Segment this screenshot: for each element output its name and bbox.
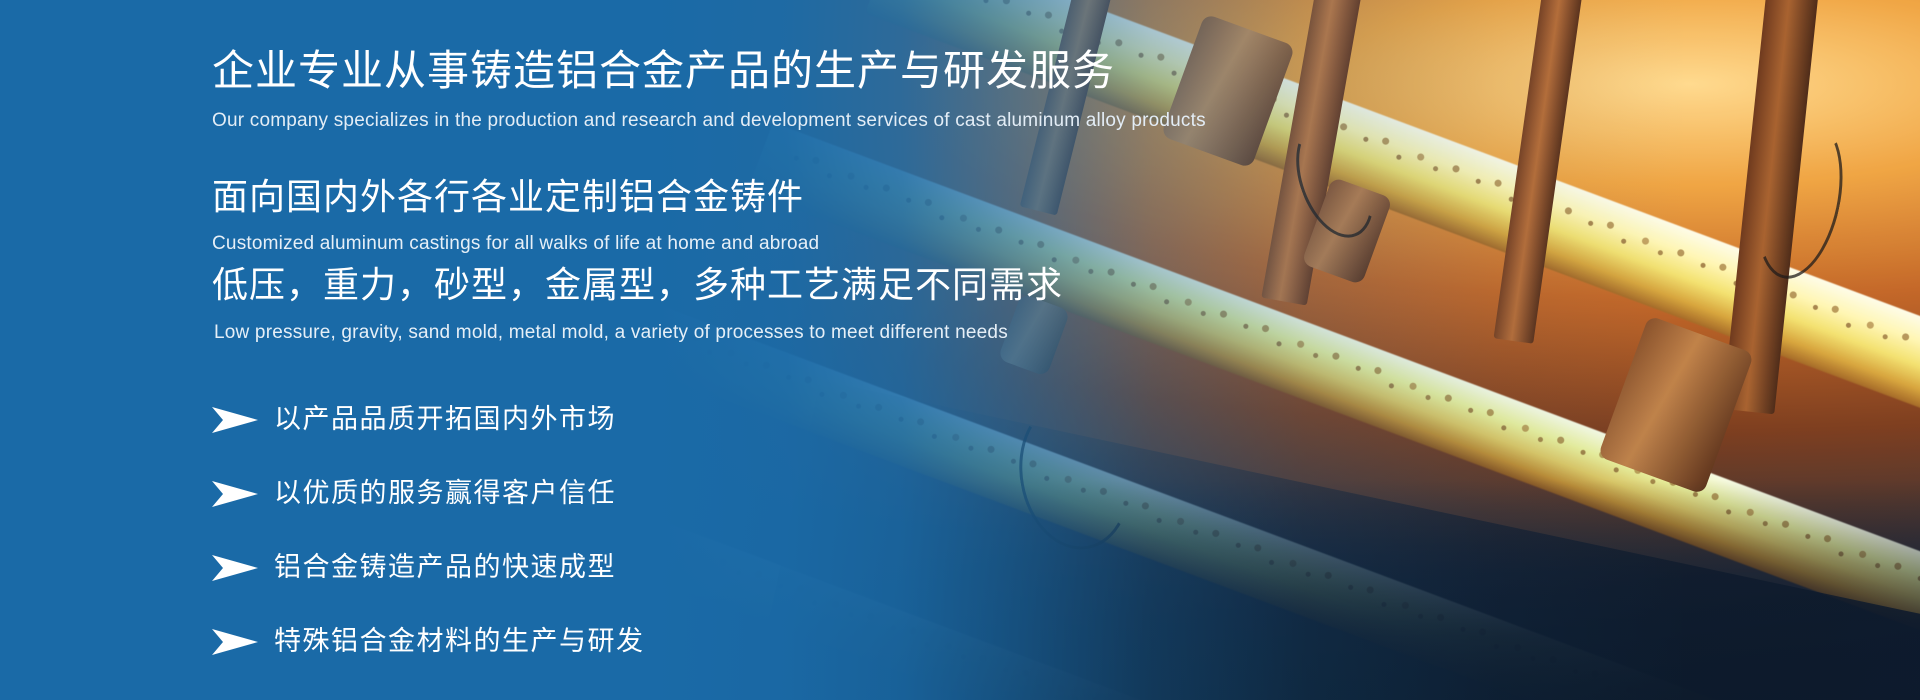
list-item[interactable]: 特殊铝合金材料的生产与研发 xyxy=(212,618,1012,666)
feature-bullet-list: 以产品品质开拓国内外市场 以优质的服务赢得客户信任 铝合金铸造产品的快速成型 特… xyxy=(212,396,1012,692)
headline-tertiary-en: Low pressure, gravity, sand mold, metal … xyxy=(214,322,1008,345)
list-item[interactable]: 以产品品质开拓国内外市场 xyxy=(212,396,1012,444)
arrow-right-icon xyxy=(212,628,258,656)
headline-tertiary-cn: 低压，重力，砂型，金属型，多种工艺满足不同需求 xyxy=(212,265,1063,305)
list-item-label: 以优质的服务赢得客户信任 xyxy=(274,479,616,509)
banner-text-content: 企业专业从事铸造铝合金产品的生产与研发服务 Our company specia… xyxy=(212,0,1512,700)
list-item-label: 特殊铝合金材料的生产与研发 xyxy=(274,627,645,657)
list-item[interactable]: 铝合金铸造产品的快速成型 xyxy=(212,544,1012,592)
headline-primary-cn: 企业专业从事铸造铝合金产品的生产与研发服务 xyxy=(212,48,1115,94)
arrow-right-icon xyxy=(212,554,258,582)
list-item-label: 以产品品质开拓国内外市场 xyxy=(274,405,616,435)
headline-primary-en: Our company specializes in the productio… xyxy=(212,110,1206,133)
headline-secondary-cn: 面向国内外各行各业定制铝合金铸件 xyxy=(212,177,804,217)
list-item[interactable]: 以优质的服务赢得客户信任 xyxy=(212,470,1012,518)
hero-banner: 企业专业从事铸造铝合金产品的生产与研发服务 Our company specia… xyxy=(0,0,1920,700)
arrow-right-icon xyxy=(212,480,258,508)
headline-secondary-en: Customized aluminum castings for all wal… xyxy=(212,233,819,256)
list-item-label: 铝合金铸造产品的快速成型 xyxy=(274,553,616,583)
arrow-right-icon xyxy=(212,406,258,434)
